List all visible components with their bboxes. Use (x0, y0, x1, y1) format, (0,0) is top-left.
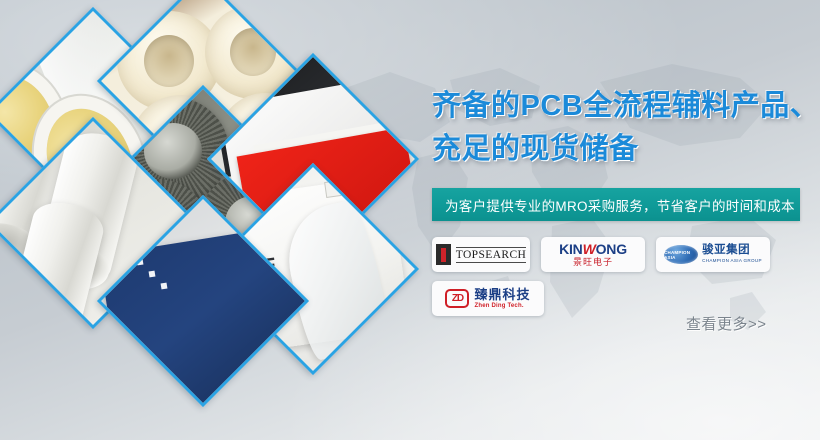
client-logo-row-2: ZD 臻鼎科技 Zhen Ding Tech. (432, 281, 802, 316)
client-logo-zhen-ding[interactable]: ZD 臻鼎科技 Zhen Ding Tech. (432, 281, 544, 316)
champion-asia-chinese-name: 骏亚集团 (702, 245, 762, 257)
kinwong-chinese-name: 景旺电子 (573, 258, 613, 267)
champion-asia-globe-text: CHAMPION ASIA (664, 250, 698, 260)
topsearch-mark-icon (436, 244, 451, 265)
zhen-ding-chinese-name: 臻鼎科技 (474, 288, 530, 301)
topsearch-rule-bottom (456, 262, 527, 263)
client-logo-champion-asia[interactable]: CHAMPION ASIA 骏亚集团 CHAMPION ASIA GROUP (656, 237, 770, 272)
zhen-ding-monogram-icon: ZD (445, 289, 469, 308)
champion-asia-english-name: CHAMPION ASIA GROUP (702, 259, 762, 264)
kinwong-part-a: KIN (559, 241, 583, 257)
promo-banner: JIE 齐备的PCB全流程辅料产品、 充足的现货储备 为客户提供专业的MRO采购… (0, 0, 820, 440)
kinwong-part-w: W (583, 241, 596, 257)
subtitle-bar: 为客户提供专业的MRO采购服务，节省客户的时间和成本 (432, 188, 800, 221)
view-more-link[interactable]: 查看更多>> (686, 313, 767, 334)
client-logo-kinwong[interactable]: KINWONG 景旺电子 (541, 237, 645, 272)
product-tile-collage: JIE (0, 20, 430, 440)
headline-line-2: 充足的现货储备 (432, 127, 812, 172)
kinwong-wordmark: KINWONG (559, 242, 627, 256)
client-logo-topsearch[interactable]: TOPSEARCH (432, 237, 530, 272)
headline-line-1: 齐备的PCB全流程辅料产品、 (432, 84, 812, 129)
subtitle-text: 为客户提供专业的MRO采购服务，节省客户的时间和成本 (445, 195, 795, 215)
banner-copy: 齐备的PCB全流程辅料产品、 充足的现货储备 为客户提供专业的MRO采购服务，节… (432, 84, 812, 325)
zhen-ding-english-name: Zhen Ding Tech. (474, 303, 530, 309)
kinwong-part-c: ONG (596, 241, 627, 257)
client-logo-grid: TOPSEARCH KINWONG 景旺电子 CHAMPION ASIA (432, 237, 802, 316)
champion-asia-globe-icon: CHAMPION ASIA (664, 245, 698, 264)
topsearch-wordmark: TOPSEARCH (456, 248, 527, 262)
client-logo-row-1: TOPSEARCH KINWONG 景旺电子 CHAMPION ASIA (432, 237, 802, 272)
